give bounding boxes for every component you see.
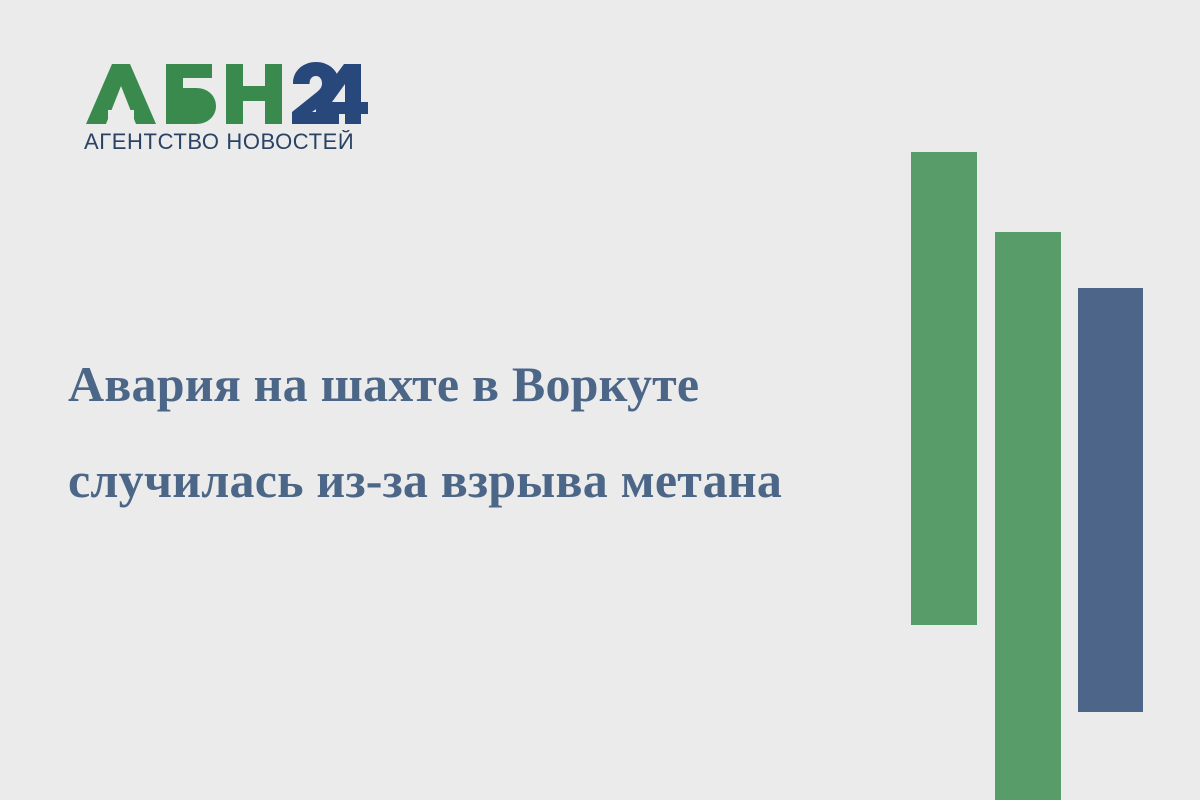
decorative-bar-2	[995, 232, 1061, 800]
decorative-bar-3	[1078, 288, 1143, 712]
logo-tagline: АГЕНТСТВО НОВОСТЕЙ	[84, 130, 374, 154]
decorative-bar-1	[911, 152, 977, 625]
logo-tagline-text: АГЕНТСТВО НОВОСТЕЙ	[84, 130, 354, 154]
brand-logo[interactable]: АГЕНТСТВО НОВОСТЕЙ	[84, 62, 374, 154]
article-headline: Авария на шахте в Воркуте случилась из-з…	[68, 336, 868, 528]
logo-abn24-mark	[84, 62, 374, 124]
news-card: АГЕНТСТВО НОВОСТЕЙ Авария на шахте в Вор…	[0, 0, 1200, 800]
